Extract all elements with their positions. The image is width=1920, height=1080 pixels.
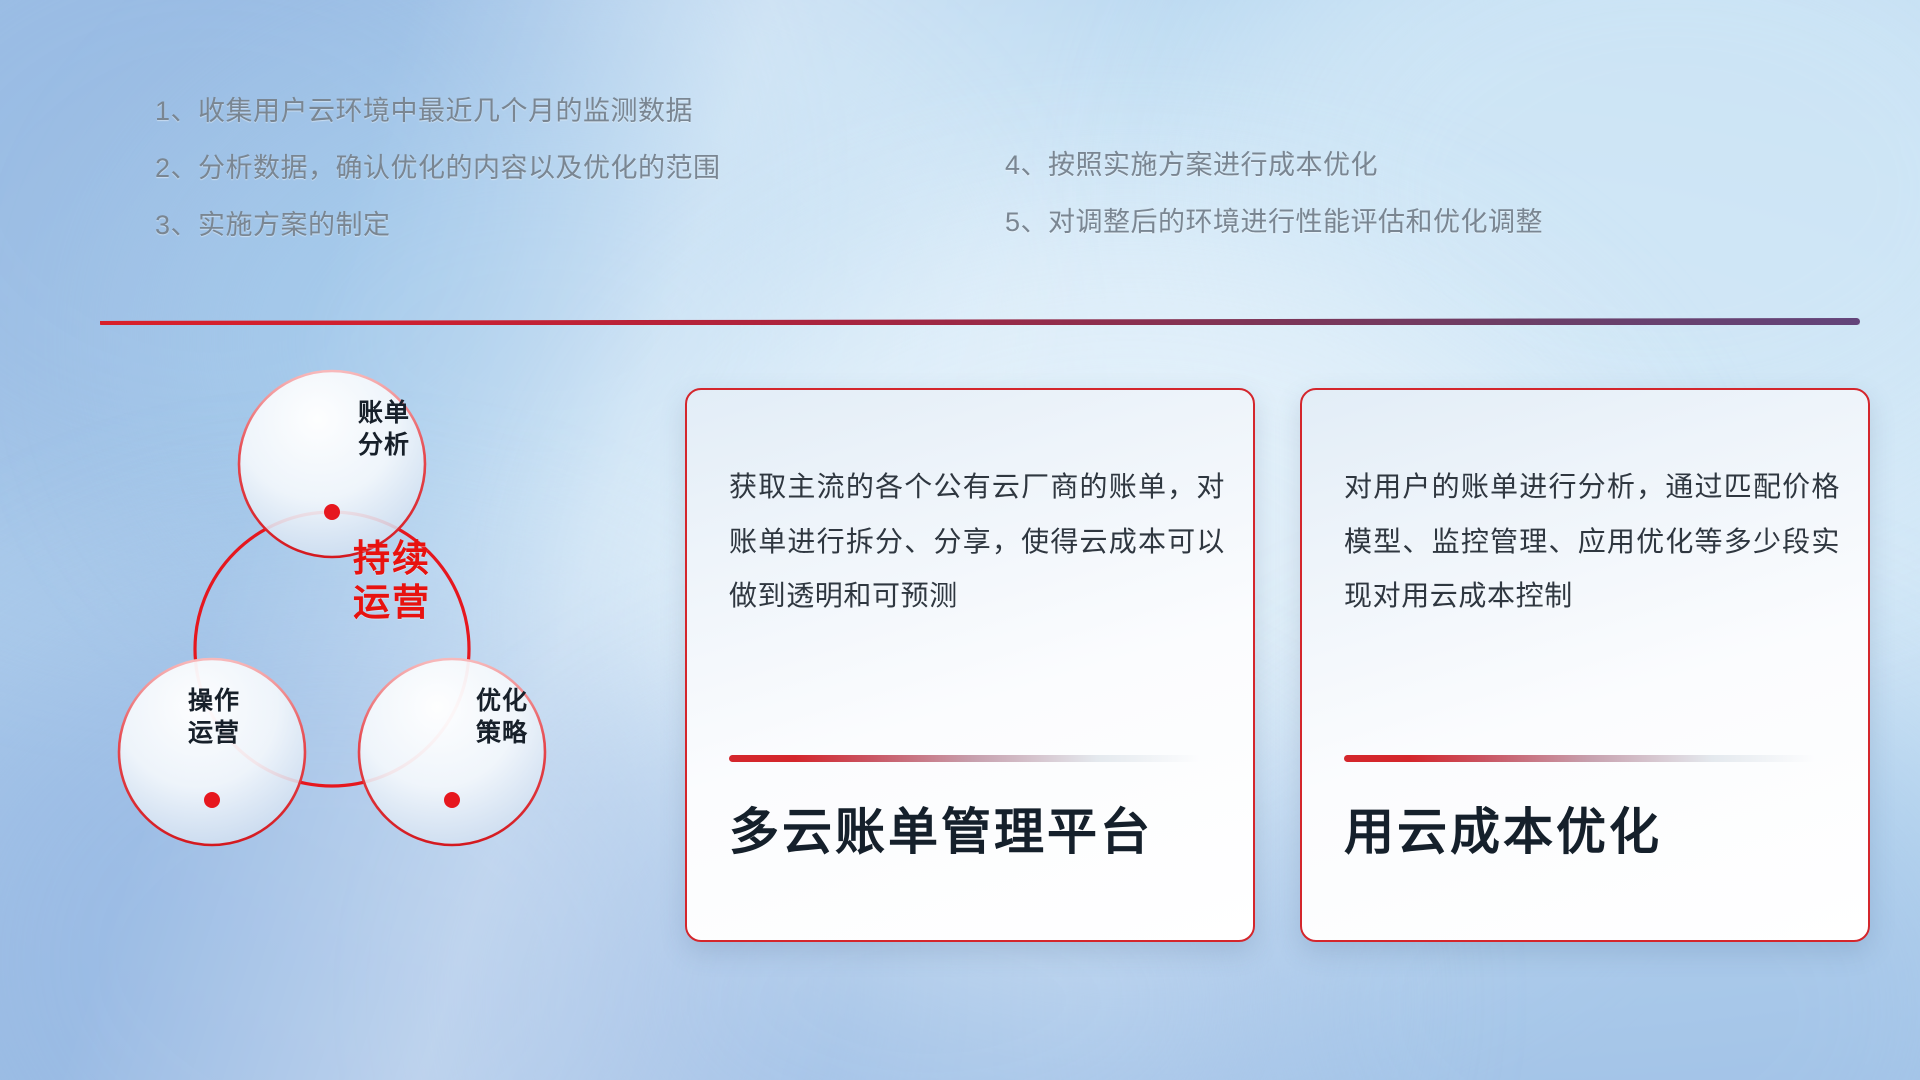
venn-node-dot-bottom-right	[444, 792, 460, 808]
feature-card-title: 用云成本优化	[1344, 802, 1824, 862]
venn-node-dot-bottom-left	[204, 792, 220, 808]
feature-card-cloud-cost-optimization[interactable]: 对用户的账单进行分析，通过匹配价格模型、监控管理、应用优化等多少段实现对用云成本…	[1300, 388, 1870, 942]
step-item: 3、实施方案的制定	[155, 212, 721, 239]
step-item: 1、收集用户云环境中最近几个月的监测数据	[155, 98, 721, 125]
venn-node-dot-top	[324, 504, 340, 520]
venn-label-top: 账单 分析	[304, 398, 464, 461]
feature-card-rule	[1344, 755, 1816, 762]
feature-card-body: 获取主流的各个公有云厂商的账单，对账单进行拆分、分享，使得云成本可以做到透明和可…	[729, 460, 1225, 624]
venn-label-bottom-right: 优化 策略	[422, 686, 582, 749]
venn-center-label: 持续 运营	[297, 537, 487, 626]
step-item: 4、按照实施方案进行成本优化	[1005, 152, 1543, 179]
step-item: 2、分析数据，确认优化的内容以及优化的范围	[155, 155, 721, 182]
venn-label-top-line1: 账单	[304, 398, 464, 430]
venn-center-label-line2: 运营	[297, 581, 487, 625]
venn-label-bottom-right-line1: 优化	[422, 686, 582, 718]
venn-label-bottom-left-line1: 操作	[134, 686, 294, 718]
process-steps-list: 1、收集用户云环境中最近几个月的监测数据 2、分析数据，确认优化的内容以及优化的…	[0, 0, 1920, 250]
venn-center-label-line1: 持续	[297, 537, 487, 581]
venn-label-bottom-left-line2: 运营	[134, 718, 294, 750]
venn-label-bottom-left: 操作 运营	[134, 686, 294, 749]
step-item: 5、对调整后的环境进行性能评估和优化调整	[1005, 209, 1543, 236]
feature-card-multi-cloud-billing[interactable]: 获取主流的各个公有云厂商的账单，对账单进行拆分、分享，使得云成本可以做到透明和可…	[685, 388, 1255, 942]
feature-card-body: 对用户的账单进行分析，通过匹配价格模型、监控管理、应用优化等多少段实现对用云成本…	[1344, 460, 1840, 624]
feature-card-rule	[729, 755, 1201, 762]
feature-card-title: 多云账单管理平台	[729, 802, 1209, 862]
steps-column-right: 4、按照实施方案进行成本优化 5、对调整后的环境进行性能评估和优化调整	[1005, 152, 1543, 266]
slide-canvas: 1、收集用户云环境中最近几个月的监测数据 2、分析数据，确认优化的内容以及优化的…	[0, 0, 1920, 1080]
steps-column-left: 1、收集用户云环境中最近几个月的监测数据 2、分析数据，确认优化的内容以及优化的…	[155, 98, 721, 269]
venn-label-bottom-right-line2: 策略	[422, 718, 582, 750]
venn-diagram: 账单 分析 操作 运营 优化 策略 持续 运营	[92, 352, 572, 932]
venn-label-top-line2: 分析	[304, 430, 464, 462]
